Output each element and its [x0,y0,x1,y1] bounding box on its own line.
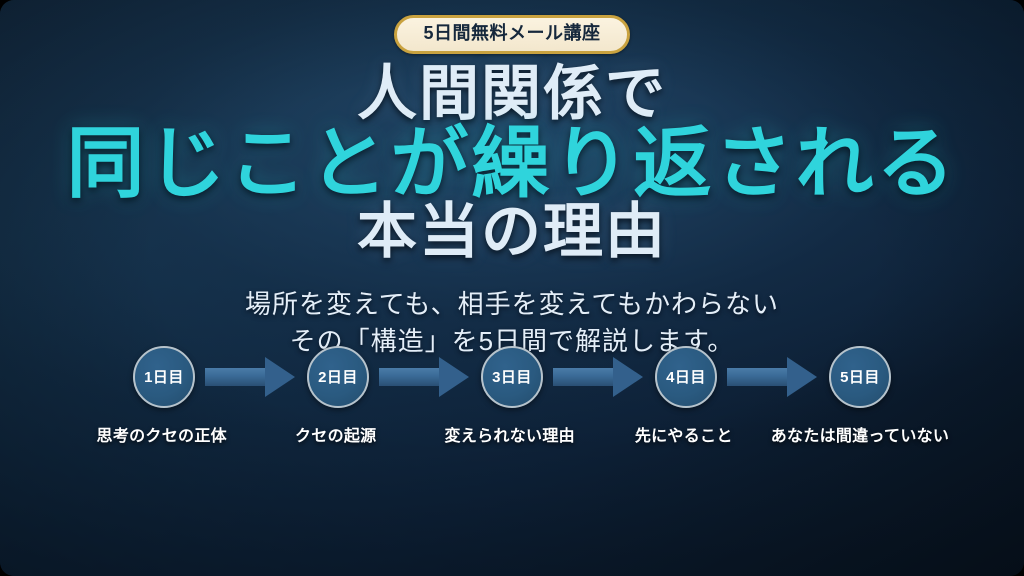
step-title-5: あなたは間違っていない [771,422,950,446]
step-day-label-3: 3日目 [492,366,532,387]
step-day-label-4: 4日目 [666,366,706,387]
arrow-head [265,357,295,397]
steps-circles-row: 1日目 2日目 3日目 4日目 [0,346,1024,408]
step-title-2: クセの起源 [249,422,423,446]
headline-line-2-accent: 同じことが繰り返される [0,124,1024,204]
arrow-icon-2 [379,357,471,397]
subtitle-line-1: 場所を変えても、相手を変えてもかわらない [0,286,1024,323]
slide-canvas: 5日間無料メール講座 人間関係で 同じことが繰り返される 本当の理由 場所を変え… [0,0,1024,576]
step-circle-5: 5日目 [829,346,891,408]
step-circle-3: 3日目 [481,346,543,408]
arrow-head [613,357,643,397]
arrow-head [439,357,469,397]
arrow-shaft [205,368,267,386]
step-day-label-2: 2日目 [318,366,358,387]
arrow-shaft [727,368,789,386]
arrow-icon-3 [553,357,645,397]
arrow-shaft [553,368,615,386]
step-day-label-1: 1日目 [144,366,184,387]
step-title-4: 先にやること [597,422,771,446]
step-circle-4: 4日目 [655,346,717,408]
headline-line-3: 本当の理由 [0,202,1024,264]
headline: 人間関係で 同じことが繰り返される 本当の理由 [0,64,1024,264]
arrow-shaft [379,368,441,386]
step-circle-1: 1日目 [133,346,195,408]
headline-line-1: 人間関係で [0,64,1024,126]
steps-timeline: 1日目 2日目 3日目 4日目 [0,346,1024,446]
steps-labels-row: 思考のクセの正体 クセの起源 変えられない理由 先にやること あなたは間違ってい… [0,422,1024,446]
step-circle-2: 2日目 [307,346,369,408]
arrow-head [787,357,817,397]
step-title-1: 思考のクセの正体 [75,422,249,446]
step-day-label-5: 5日目 [840,366,880,387]
arrow-icon-4 [727,357,819,397]
course-badge: 5日間無料メール講座 [394,15,629,54]
badge-row: 5日間無料メール講座 [0,0,1024,54]
step-title-3: 変えられない理由 [423,422,597,446]
arrow-icon-1 [205,357,297,397]
